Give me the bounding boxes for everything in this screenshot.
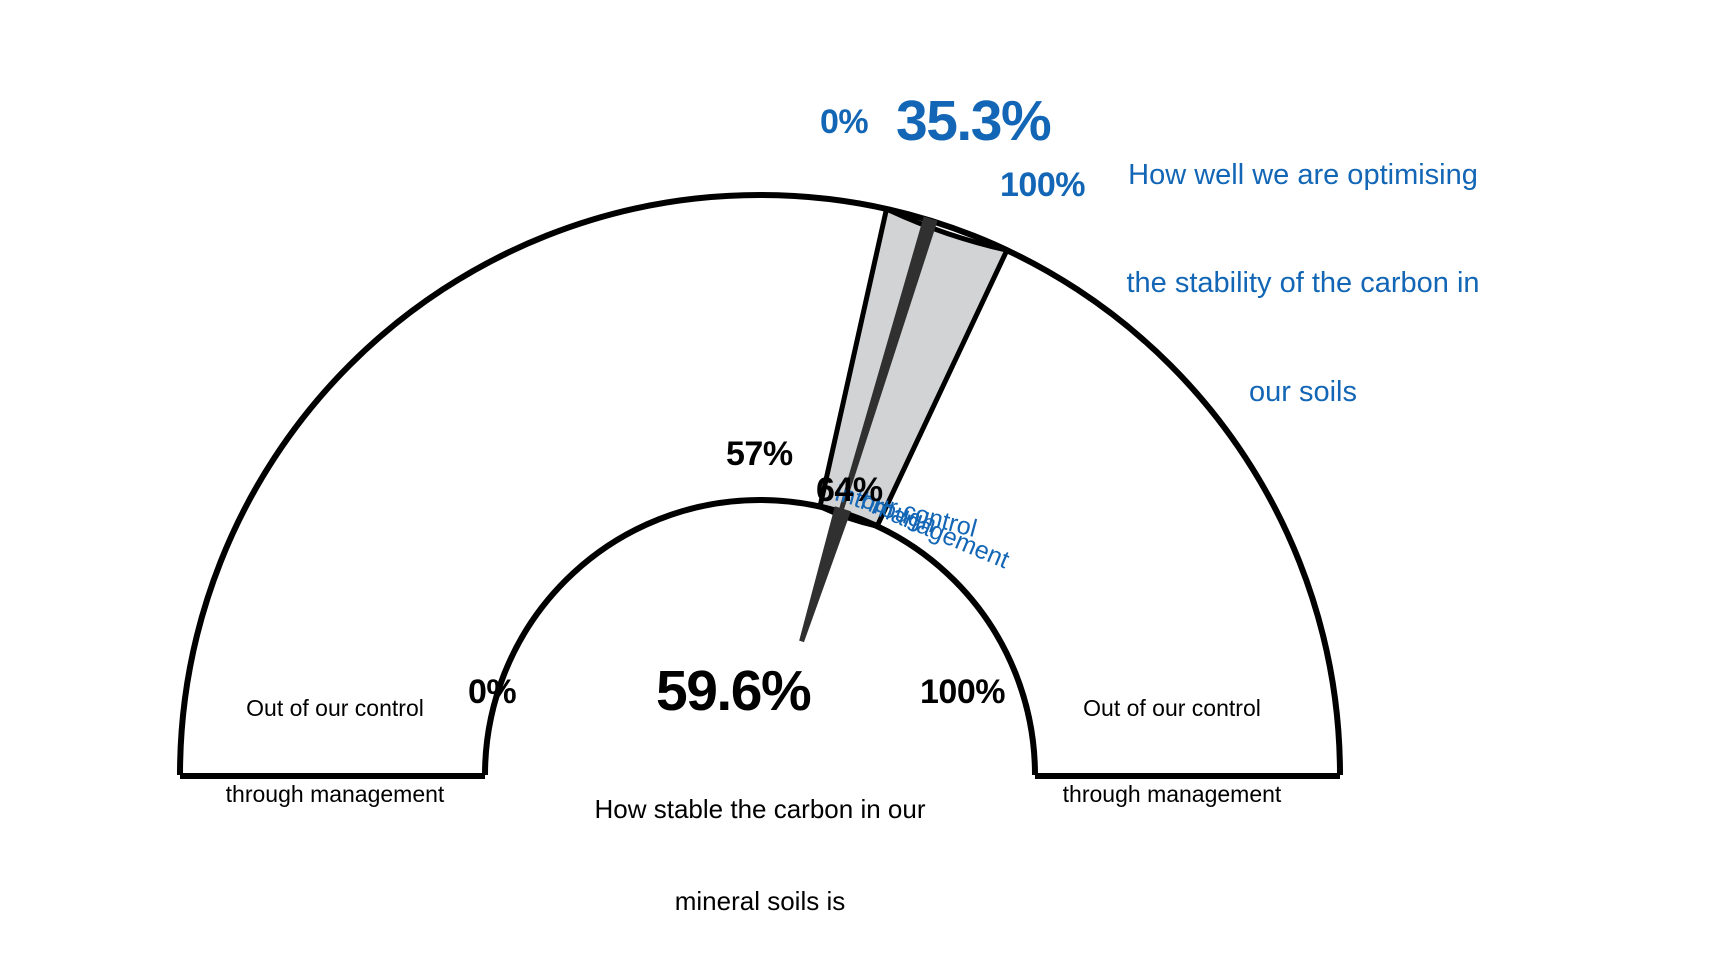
zone-label-left-line2: through management [210, 780, 460, 809]
inner-gauge-caption-line1: How stable the carbon in our [540, 794, 980, 825]
outer-gauge-value-label: 35.3% [896, 88, 1050, 155]
gauge-chart: 0% 35.3% 100% How well we are optimising… [0, 0, 1719, 967]
outer-gauge-max-label: 100% [1000, 165, 1085, 205]
outer-gauge-caption: How well we are optimising the stability… [1120, 84, 1486, 483]
inner-gauge-caption: How stable the carbon in our mineral soi… [540, 733, 980, 978]
zone-label-left-line1: Out of our control [210, 694, 460, 723]
outer-gauge-min-label: 0% [820, 102, 868, 142]
inner-gauge-max-label: 100% [920, 672, 1005, 712]
outer-gauge-caption-line3: our soils [1120, 374, 1486, 410]
outer-gauge-caption-line2: the stability of the carbon in [1120, 265, 1486, 301]
inner-gauge-value-label: 59.6% [656, 658, 810, 725]
zone-label-right-line1: Out of our control [1047, 694, 1297, 723]
outer-gauge-caption-line1: How well we are optimising [1120, 157, 1486, 193]
inner-gauge-min-label: 0% [468, 672, 516, 712]
inner-gauge-zone-label-left: Out of our control through management [210, 636, 460, 866]
inner-gauge-band-end-label: 64% [816, 470, 883, 510]
zone-label-right-line2: through management [1047, 780, 1297, 809]
inner-gauge-caption-line2: mineral soils is [540, 886, 980, 917]
inner-gauge-needle [799, 506, 851, 642]
inner-gauge-zone-label-right: Out of our control through management [1047, 636, 1297, 866]
inner-gauge-band-start-label: 57% [726, 434, 793, 474]
